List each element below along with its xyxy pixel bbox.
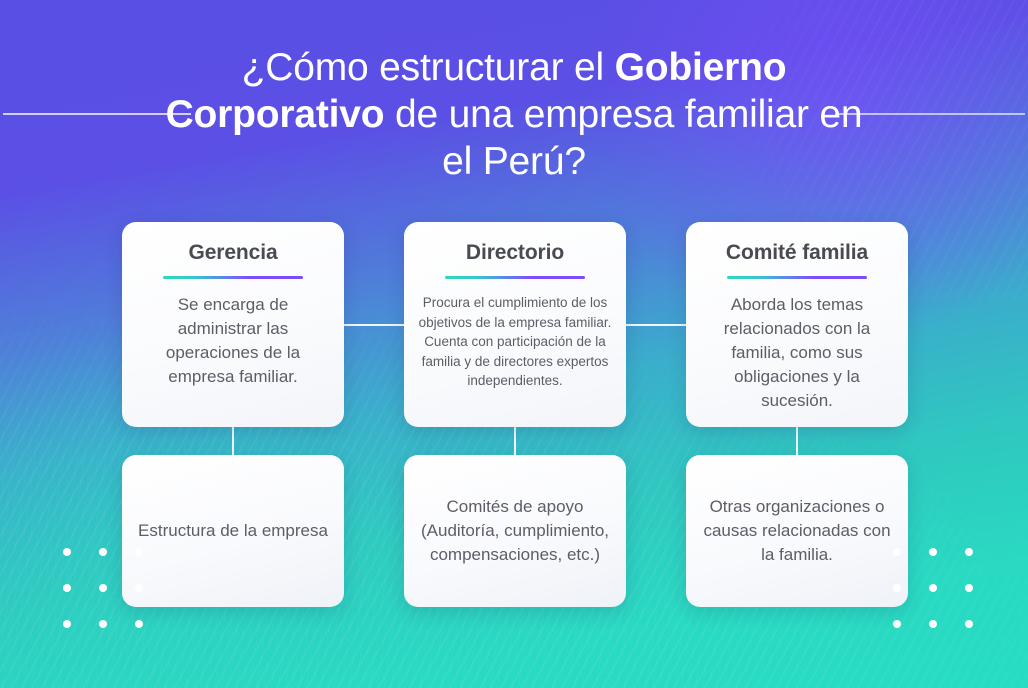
connector-directorio-comites [514, 427, 516, 455]
dot [965, 584, 973, 592]
connector-gerencia-estructura [232, 427, 234, 455]
dot [99, 548, 107, 556]
dot [965, 548, 973, 556]
card-gerencia-divider [163, 276, 303, 279]
card-directorio-title: Directorio [466, 240, 564, 266]
page-title: ¿Cómo estructurar el Gobierno Corporativ… [164, 44, 864, 185]
card-estructura-empresa-label: Estructura de la empresa [138, 519, 328, 543]
card-gerencia-title: Gerencia [188, 240, 277, 266]
card-otras-organizaciones-label: Otras organizaciones o causas relacionad… [702, 495, 892, 567]
dot [929, 584, 937, 592]
dot [929, 548, 937, 556]
infographic-canvas: ¿Cómo estructurar el Gobierno Corporativ… [0, 0, 1028, 688]
card-directorio-divider [445, 276, 585, 279]
card-comite-familia-divider [727, 276, 867, 279]
dot [893, 548, 901, 556]
card-otras-organizaciones[interactable]: Otras organizaciones o causas relacionad… [686, 455, 908, 607]
header-rule-left [3, 113, 191, 115]
dot [929, 620, 937, 628]
page-title-segment-2: de una empresa familiar en el Perú? [384, 93, 862, 183]
dot [63, 584, 71, 592]
dot [99, 584, 107, 592]
dot [135, 548, 143, 556]
dot [63, 620, 71, 628]
dot [99, 620, 107, 628]
card-comite-familia-body: Aborda los temas relacionados con la fam… [700, 293, 894, 413]
card-gerencia[interactable]: Gerencia Se encarga de administrar las o… [122, 222, 344, 427]
dot [965, 620, 973, 628]
card-comites-apoyo[interactable]: Comités de apoyo (Auditoría, cumplimient… [404, 455, 626, 607]
card-estructura-empresa[interactable]: Estructura de la empresa [122, 455, 344, 607]
dot [63, 548, 71, 556]
card-gerencia-body: Se encarga de administrar las operacione… [136, 293, 330, 389]
connector-comite-otras [796, 427, 798, 455]
connector-gerencia-directorio [344, 324, 404, 326]
decorative-dot-grid-right [893, 548, 973, 628]
dot [893, 620, 901, 628]
dot [135, 584, 143, 592]
decorative-dot-grid-left [63, 548, 143, 628]
header: ¿Cómo estructurar el Gobierno Corporativ… [0, 0, 1028, 200]
connector-directorio-comite [626, 324, 686, 326]
card-comite-familia[interactable]: Comité familia Aborda los temas relacion… [686, 222, 908, 427]
dot [135, 620, 143, 628]
card-comites-apoyo-label: Comités de apoyo (Auditoría, cumplimient… [420, 495, 610, 567]
card-directorio[interactable]: Directorio Procura el cumplimiento de lo… [404, 222, 626, 427]
dot [893, 584, 901, 592]
card-comite-familia-title: Comité familia [726, 240, 868, 266]
card-directorio-body: Procura el cumplimiento de los objetivos… [418, 293, 612, 391]
page-title-segment-1: ¿Cómo estructurar el [242, 46, 615, 89]
